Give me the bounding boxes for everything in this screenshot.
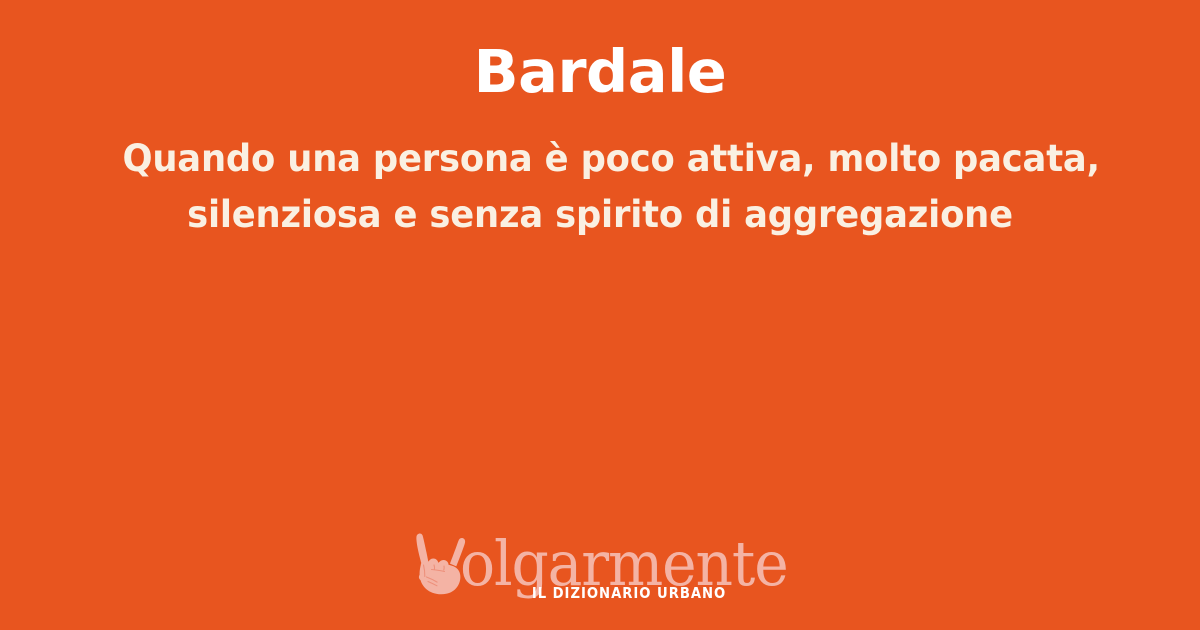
logo-tagline: IL DIZIONARIO URBANO — [428, 585, 773, 602]
definition-line: silenziosa e senza spirito di aggregazio… — [123, 187, 1078, 243]
page-title: Bardale — [0, 34, 1200, 110]
logo-lockup: olgarmente IL DIZIONARIO URBANO — [404, 529, 796, 609]
site-logo: olgarmente IL DIZIONARIO URBANO — [0, 529, 1200, 609]
definition-line: Quando una persona è poco attiva, molto … — [123, 131, 1078, 187]
share-card: Bardale Quando una persona è poco attiva… — [0, 0, 1200, 630]
entry-definition: Quando una persona è poco attiva, molto … — [123, 131, 1078, 243]
